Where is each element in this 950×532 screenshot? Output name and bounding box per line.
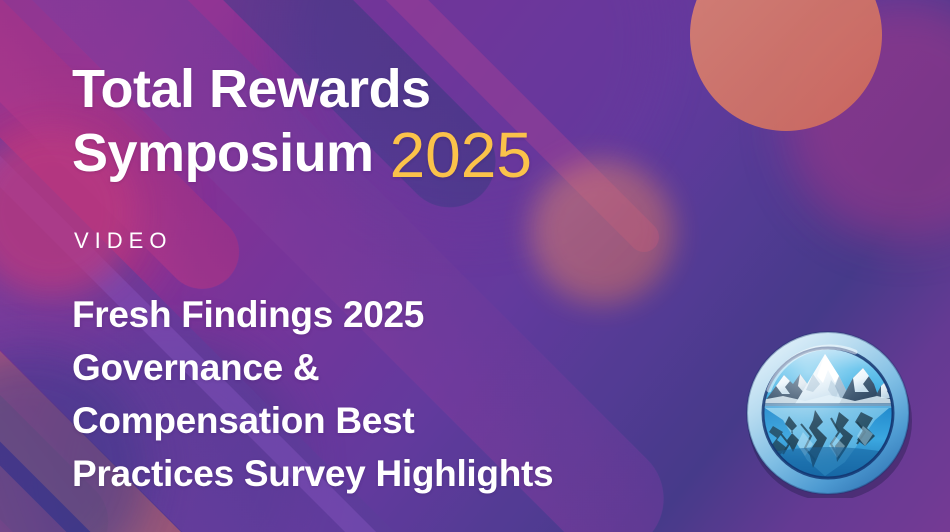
headline-line-1: Fresh Findings 2025 bbox=[72, 288, 553, 341]
content-type-label: VIDEO bbox=[74, 228, 172, 254]
headline-line-4: Practices Survey Highlights bbox=[72, 447, 553, 500]
headline-line-2: Governance & bbox=[72, 341, 553, 394]
headline: Fresh Findings 2025 Governance & Compens… bbox=[72, 288, 553, 500]
banner-content: Total Rewards Symposium 2025 VIDEO Fresh… bbox=[72, 0, 732, 532]
headline-line-3: Compensation Best bbox=[72, 394, 553, 447]
event-title-line2-row: Symposium 2025 bbox=[72, 120, 532, 182]
event-title-line2: Symposium bbox=[72, 124, 374, 182]
promo-banner: Total Rewards Symposium 2025 VIDEO Fresh… bbox=[0, 0, 950, 532]
event-year: 2025 bbox=[390, 126, 532, 184]
event-title-line1: Total Rewards bbox=[72, 60, 431, 118]
iceberg-logo bbox=[743, 328, 913, 498]
